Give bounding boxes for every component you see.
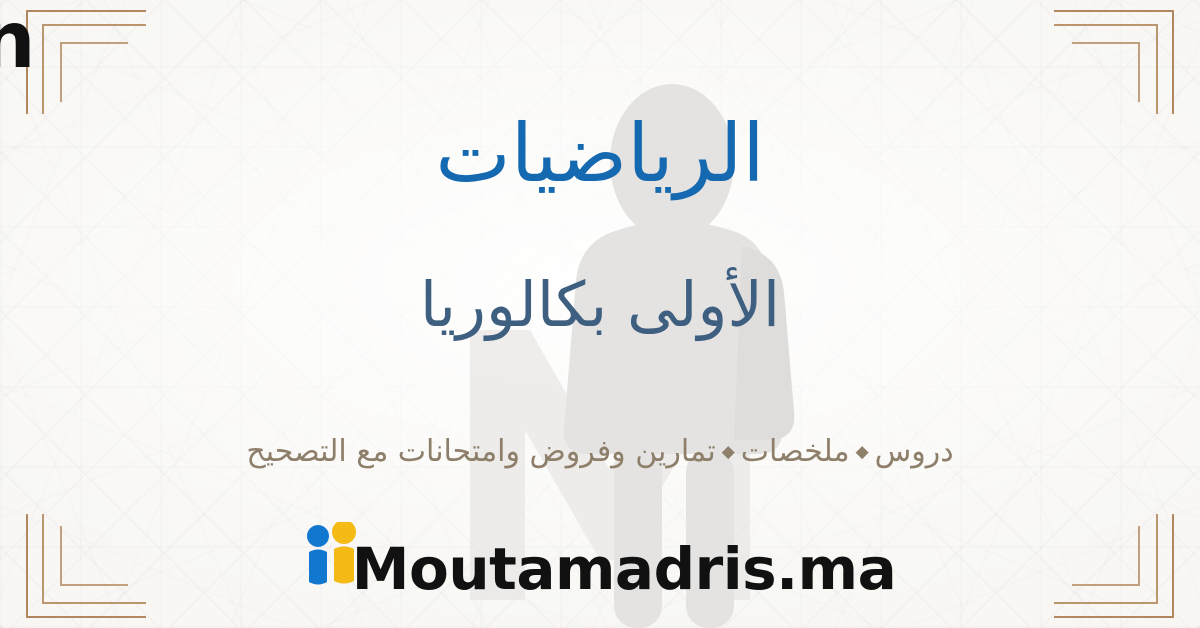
poster-canvas: n الرياضيات الأولى بكالوريا دروس◆ملخصات◆… (0, 0, 1200, 628)
site-logo[interactable]: Moutamadris.ma (0, 522, 1200, 598)
two-students-logo-icon (304, 522, 360, 596)
poster-content: الرياضيات الأولى بكالوريا دروس◆ملخصات◆تم… (0, 0, 1200, 628)
tagline-part-3: تمارين وفروض وامتحانات مع التصحيح (246, 434, 715, 469)
subject-title: الرياضيات (0, 108, 1200, 200)
tagline: دروس◆ملخصات◆تمارين وفروض وامتحانات مع ال… (0, 432, 1200, 471)
diamond-separator-icon: ◆ (716, 442, 741, 462)
diamond-separator-icon: ◆ (850, 442, 875, 462)
grade-level-subtitle: الأولى بكالوريا (0, 268, 1200, 342)
tagline-part-2: ملخصات (741, 434, 850, 469)
tagline-part-1: دروس (875, 434, 954, 469)
logo-wordmark: Moutamadris.ma (352, 540, 896, 598)
